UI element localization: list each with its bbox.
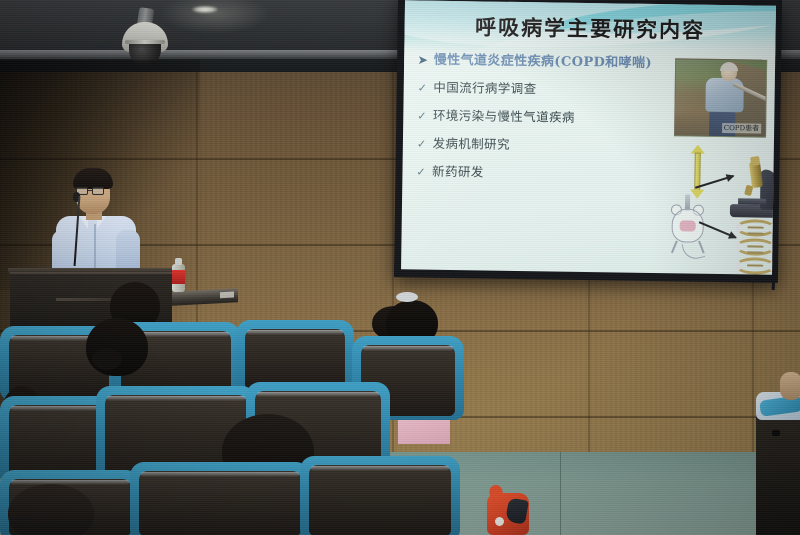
bullet-item-5: ✓ 新药研发 — [416, 160, 666, 183]
mouse-lung — [680, 220, 696, 231]
copd-patient-photo: COPD患者 — [674, 58, 767, 137]
projection-screen: 呼吸病学主要研究内容 ➤ 慢性气道炎症性疾病(COPD和哮喘) ✓ 中国流行病学… — [394, 0, 782, 283]
backpack-logo — [495, 517, 504, 526]
dna-rung — [747, 245, 763, 247]
bullet-check-icon: ✓ — [417, 109, 427, 122]
lecture-hall-photo: 呼吸病学主要研究内容 ➤ 慢性气道炎症性疾病(COPD和哮喘) ✓ 中国流行病学… — [0, 0, 800, 535]
dna-rung — [748, 226, 764, 228]
ceiling-light — [192, 6, 218, 13]
microscope-stage — [738, 198, 766, 204]
floor-seam — [560, 452, 561, 535]
slide-bullet-list: ➤ 慢性气道炎症性疾病(COPD和哮喘) ✓ 中国流行病学调查 ✓ 环境污染与慢… — [416, 48, 668, 192]
bullet-item-2: ✓ 中国流行病学调查 — [418, 76, 668, 99]
projected-slide: 呼吸病学主要研究内容 ➤ 慢性气道炎症性疾病(COPD和哮喘) ✓ 中国流行病学… — [401, 0, 776, 274]
bullet-text: 发病机制研究 — [432, 133, 510, 153]
dna-rung — [747, 251, 763, 253]
slide-title: 呼吸病学主要研究内容 — [404, 10, 775, 46]
bullet-check-icon: ✓ — [418, 81, 428, 94]
arrow-head-down — [690, 190, 704, 199]
seat-right-edge[interactable] — [756, 404, 800, 535]
microscope-eyepiece — [750, 156, 760, 166]
yellow-double-arrow-icon — [690, 145, 705, 199]
presenter — [46, 168, 152, 283]
bullet-item-3: ✓ 环境污染与慢性气道疾病 — [417, 104, 667, 127]
presenter-hair — [73, 168, 113, 189]
mouse-tail — [681, 239, 705, 261]
bottle-label — [172, 270, 185, 284]
audience-head — [86, 318, 148, 376]
dna-rung — [748, 232, 764, 234]
bottle-cap — [175, 258, 182, 265]
dna-rung — [747, 264, 763, 266]
audience-head — [8, 484, 94, 535]
security-camera-icon — [122, 16, 168, 66]
photo-person-body — [705, 78, 744, 113]
bullet-text: 环境污染与慢性气道疾病 — [433, 105, 575, 126]
mouse-leg — [671, 241, 677, 254]
bullet-text: 新药研发 — [432, 161, 484, 181]
water-bottle — [172, 258, 185, 292]
hair-bun — [92, 348, 122, 370]
seat[interactable] — [300, 456, 460, 535]
bullet-text: 中国流行病学调查 — [433, 77, 536, 98]
shelf-label — [220, 291, 234, 298]
seat-hardware — [772, 430, 780, 436]
lab-mouse-icon — [659, 200, 716, 261]
hair-clip — [396, 292, 418, 302]
bullet-item-4: ✓ 发病机制研究 — [417, 132, 667, 155]
bullet-arrow-icon: ➤ — [418, 53, 428, 66]
bullet-item-1: ➤ 慢性气道炎症性疾病(COPD和哮喘) — [418, 48, 668, 71]
orange-backpack — [487, 485, 529, 535]
dna-helix-icon — [731, 219, 776, 275]
bullet-text: 慢性气道炎症性疾病(COPD和哮喘) — [434, 49, 652, 71]
microscope-icon — [728, 155, 776, 218]
ceiling-light-spill — [160, 0, 270, 34]
audience-arm — [780, 372, 800, 400]
copd-photo-caption: COPD患者 — [722, 123, 762, 134]
seat[interactable] — [130, 462, 310, 535]
glasses-icon — [92, 187, 104, 195]
bullet-check-icon: ✓ — [417, 137, 427, 150]
glasses-bridge — [88, 190, 93, 191]
bullet-check-icon: ✓ — [416, 165, 426, 178]
